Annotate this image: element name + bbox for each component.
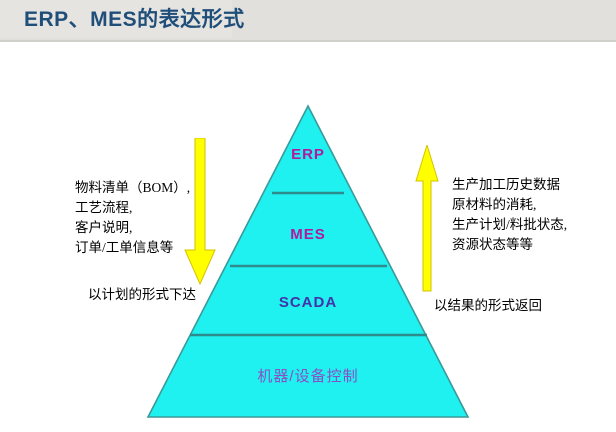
output-description-block: 生产加工历史数据 原材料的消耗, 生产计划/料批状态, 资源状态等等 (452, 175, 567, 255)
output-caption: 以结果的形式返回 (434, 294, 542, 314)
input-description-block: 物料清单（BOM）, 工艺流程, 客户说明, 订单/工单信息等 (75, 178, 190, 258)
input-line-2: 工艺流程, (75, 198, 190, 218)
slide-canvas: ERP、MES的表达形式 ERP MES SCADA 机器/设备控制 物料清单（… (0, 0, 616, 432)
page-title: ERP、MES的表达形式 (24, 6, 245, 34)
title-band-underline (0, 40, 616, 42)
pyramid-label-machine-control: 机器/设备控制 (0, 365, 616, 386)
output-line-3: 生产计划/料批状态, (452, 215, 567, 235)
output-line-1: 生产加工历史数据 (452, 175, 567, 195)
input-line-3: 客户说明, (75, 218, 190, 238)
output-line-2: 原材料的消耗, (452, 195, 567, 215)
input-line-4: 订单/工单信息等 (75, 238, 190, 258)
pyramid-label-erp: ERP (0, 146, 616, 163)
up-arrow-icon (412, 145, 442, 293)
input-line-1: 物料清单（BOM）, (75, 178, 190, 198)
output-line-4: 资源状态等等 (452, 235, 567, 255)
input-caption: 以计划的形式下达 (88, 283, 196, 303)
